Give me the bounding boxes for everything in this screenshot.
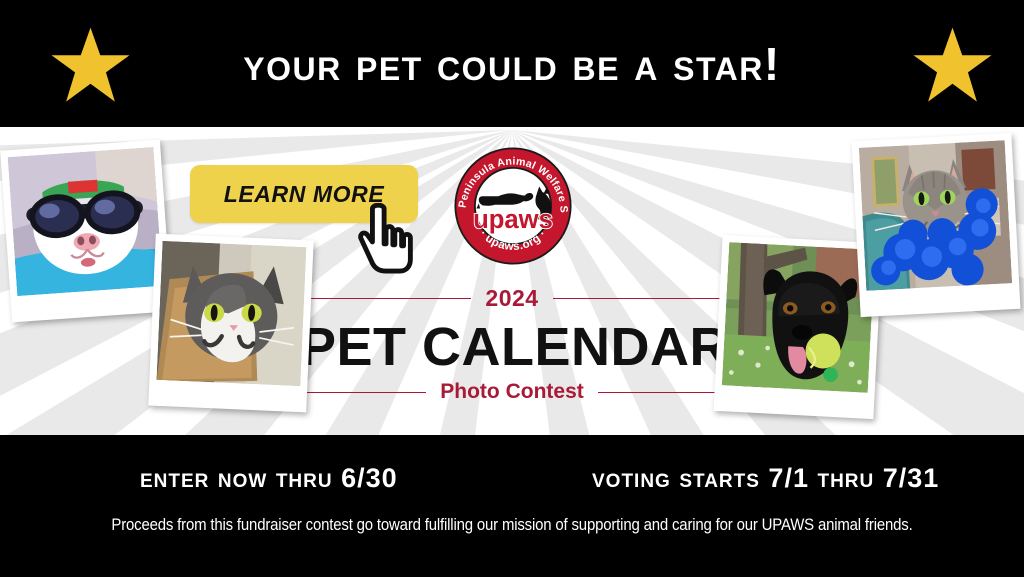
star-icon-right xyxy=(900,26,1005,104)
photo-image xyxy=(859,140,1012,290)
rule-left xyxy=(300,298,471,299)
rule-right-2 xyxy=(598,392,724,393)
sunburst-stage: LEARN MORE Upper Peninsula Animal Welfar… xyxy=(0,127,1024,435)
photo-grey-cat-with-blue-boa[interactable] xyxy=(852,133,1021,317)
photo-dog-with-goggles[interactable] xyxy=(0,140,172,323)
title-block: 2024 PET CALENDAR Photo Contest xyxy=(300,285,724,404)
pet-calendar-promo-banner: Your Pet Could Be a Star! xyxy=(0,0,1024,577)
photo-image xyxy=(722,242,875,392)
year-label: 2024 xyxy=(485,285,538,312)
voting-starts-text: Voting Starts 7/1 thru 7/31 xyxy=(592,463,939,494)
tagline-text: Proceeds from this fundraiser contest go… xyxy=(61,515,962,535)
subtitle-row: Photo Contest xyxy=(300,380,724,404)
learn-more-button[interactable]: LEARN MORE xyxy=(190,165,418,223)
rule-right xyxy=(553,298,724,299)
rule-left-2 xyxy=(300,392,426,393)
learn-more-container: LEARN MORE xyxy=(190,165,418,223)
photo-tuxedo-cat[interactable] xyxy=(148,234,313,413)
page-title: Your Pet Could Be a Star! xyxy=(0,0,1024,127)
contest-subtitle: Photo Contest xyxy=(440,380,583,404)
photo-image xyxy=(8,147,163,296)
top-banner: Your Pet Could Be a Star! xyxy=(0,0,1024,127)
logo-wordmark: upaws xyxy=(473,206,553,234)
photo-image xyxy=(156,241,306,386)
year-row: 2024 xyxy=(300,285,724,312)
calendar-title: PET CALENDAR xyxy=(300,318,724,376)
enter-now-text: Enter Now thru 6/30 xyxy=(140,463,398,494)
bottom-banner: Enter Now thru 6/30 Voting Starts 7/1 th… xyxy=(0,435,1024,577)
upaws-logo[interactable]: Upper Peninsula Animal Welfare Shelter ·… xyxy=(452,145,574,267)
